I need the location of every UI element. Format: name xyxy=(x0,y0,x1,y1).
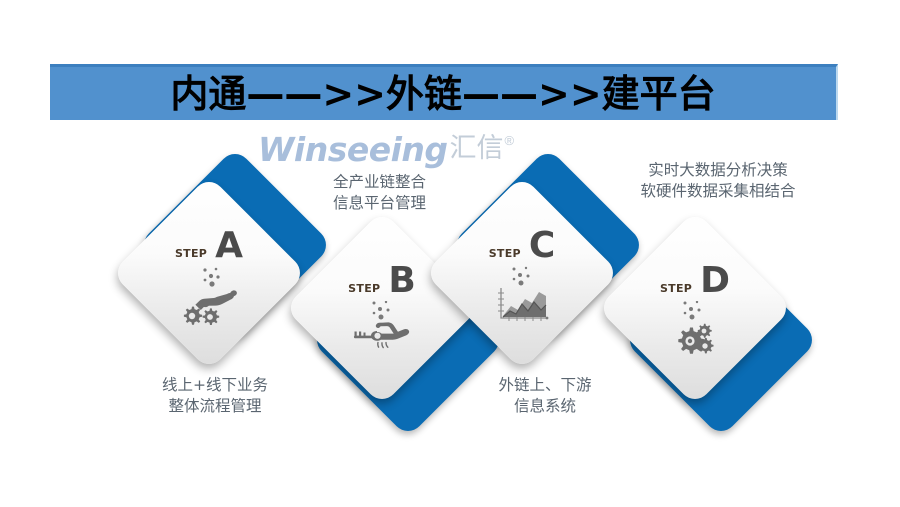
step-b-caption: 全产业链整合 信息平台管理 xyxy=(272,172,487,214)
step-a-caption: 线上+线下业务 整体流程管理 xyxy=(95,375,335,417)
step-d-caption: 实时大数据分析决策 软硬件数据采集相结合 xyxy=(598,160,838,202)
process-diagram: STEP A xyxy=(0,0,900,507)
step-c-caption: 外链上、下游 信息系统 xyxy=(425,375,665,417)
